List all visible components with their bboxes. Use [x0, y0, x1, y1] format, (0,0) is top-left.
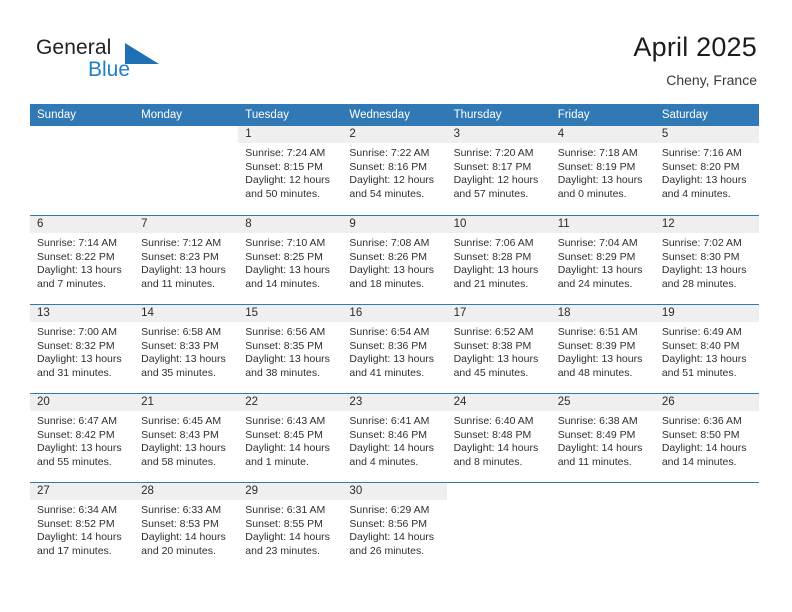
sunrise-text: Sunrise: 6:45 AM: [141, 415, 232, 429]
sunrise-text: Sunrise: 6:31 AM: [245, 504, 336, 518]
daylight-text-line1: Daylight: 14 hours: [558, 442, 649, 456]
calendar-day-cell[interactable]: 12Sunrise: 7:02 AMSunset: 8:30 PMDayligh…: [655, 216, 759, 304]
daylight-text-line1: Daylight: 13 hours: [662, 174, 753, 188]
calendar-day-cell[interactable]: 27Sunrise: 6:34 AMSunset: 8:52 PMDayligh…: [30, 483, 134, 571]
daylight-text-line2: and 0 minutes.: [558, 188, 649, 202]
calendar-day-cell[interactable]: 3Sunrise: 7:20 AMSunset: 8:17 PMDaylight…: [447, 126, 551, 215]
calendar-day-cell-empty: [447, 483, 551, 571]
day-sun-info: Sunrise: 7:06 AMSunset: 8:28 PMDaylight:…: [447, 233, 551, 291]
sunset-text: Sunset: 8:40 PM: [662, 340, 753, 354]
sunset-text: Sunset: 8:48 PM: [454, 429, 545, 443]
day-sun-info: Sunrise: 6:34 AMSunset: 8:52 PMDaylight:…: [30, 500, 134, 558]
logo-text-blue: Blue: [88, 58, 130, 82]
daylight-text-line1: Daylight: 14 hours: [349, 442, 440, 456]
calendar-day-cell-empty: [30, 126, 134, 215]
day-sun-info: Sunrise: 6:41 AMSunset: 8:46 PMDaylight:…: [342, 411, 446, 469]
sunrise-text: Sunrise: 6:29 AM: [349, 504, 440, 518]
day-sun-info: Sunrise: 7:00 AMSunset: 8:32 PMDaylight:…: [30, 322, 134, 380]
sunset-text: Sunset: 8:26 PM: [349, 251, 440, 265]
day-number: 14: [134, 305, 238, 322]
daylight-text-line2: and 41 minutes.: [349, 367, 440, 381]
sunrise-text: Sunrise: 7:22 AM: [349, 147, 440, 161]
calendar-day-cell[interactable]: 9Sunrise: 7:08 AMSunset: 8:26 PMDaylight…: [342, 216, 446, 304]
daylight-text-line1: Daylight: 13 hours: [662, 353, 753, 367]
day-number: 30: [342, 483, 446, 500]
calendar-day-cell[interactable]: 17Sunrise: 6:52 AMSunset: 8:38 PMDayligh…: [447, 305, 551, 393]
sunrise-text: Sunrise: 7:10 AM: [245, 237, 336, 251]
daylight-text-line1: Daylight: 14 hours: [662, 442, 753, 456]
day-sun-info: Sunrise: 7:04 AMSunset: 8:29 PMDaylight:…: [551, 233, 655, 291]
day-sun-info: Sunrise: 7:10 AMSunset: 8:25 PMDaylight:…: [238, 233, 342, 291]
sunrise-text: Sunrise: 7:04 AM: [558, 237, 649, 251]
calendar-day-cell[interactable]: 14Sunrise: 6:58 AMSunset: 8:33 PMDayligh…: [134, 305, 238, 393]
sunrise-text: Sunrise: 6:54 AM: [349, 326, 440, 340]
sunset-text: Sunset: 8:19 PM: [558, 161, 649, 175]
day-number: 24: [447, 394, 551, 411]
calendar-day-cell[interactable]: 30Sunrise: 6:29 AMSunset: 8:56 PMDayligh…: [342, 483, 446, 571]
day-number: [30, 126, 134, 143]
day-number: 21: [134, 394, 238, 411]
calendar-day-cell-empty: [655, 483, 759, 571]
daylight-text-line2: and 1 minute.: [245, 456, 336, 470]
daylight-text-line1: Daylight: 14 hours: [245, 442, 336, 456]
calendar-day-cell[interactable]: 1Sunrise: 7:24 AMSunset: 8:15 PMDaylight…: [238, 126, 342, 215]
daylight-text-line2: and 48 minutes.: [558, 367, 649, 381]
sunrise-text: Sunrise: 7:20 AM: [454, 147, 545, 161]
calendar-day-cell[interactable]: 7Sunrise: 7:12 AMSunset: 8:23 PMDaylight…: [134, 216, 238, 304]
calendar-weeks: 1Sunrise: 7:24 AMSunset: 8:15 PMDaylight…: [30, 126, 759, 571]
daylight-text-line2: and 28 minutes.: [662, 278, 753, 292]
day-number: 13: [30, 305, 134, 322]
calendar-page: General Blue April 2025 Cheny, France Su…: [0, 0, 792, 612]
day-number: 11: [551, 216, 655, 233]
sunset-text: Sunset: 8:38 PM: [454, 340, 545, 354]
daylight-text-line2: and 31 minutes.: [37, 367, 128, 381]
calendar-week-row: 13Sunrise: 7:00 AMSunset: 8:32 PMDayligh…: [30, 304, 759, 393]
daylight-text-line1: Daylight: 13 hours: [37, 353, 128, 367]
daylight-text-line1: Daylight: 13 hours: [37, 264, 128, 278]
sunrise-text: Sunrise: 7:14 AM: [37, 237, 128, 251]
day-number: 4: [551, 126, 655, 143]
sunrise-text: Sunrise: 7:08 AM: [349, 237, 440, 251]
logo-general-blue[interactable]: General Blue: [36, 36, 186, 88]
day-sun-info: Sunrise: 7:24 AMSunset: 8:15 PMDaylight:…: [238, 143, 342, 201]
day-sun-info: Sunrise: 7:02 AMSunset: 8:30 PMDaylight:…: [655, 233, 759, 291]
day-sun-info: Sunrise: 7:12 AMSunset: 8:23 PMDaylight:…: [134, 233, 238, 291]
calendar-day-cell[interactable]: 25Sunrise: 6:38 AMSunset: 8:49 PMDayligh…: [551, 394, 655, 482]
calendar-day-cell[interactable]: 19Sunrise: 6:49 AMSunset: 8:40 PMDayligh…: [655, 305, 759, 393]
calendar-day-cell[interactable]: 16Sunrise: 6:54 AMSunset: 8:36 PMDayligh…: [342, 305, 446, 393]
day-number: 25: [551, 394, 655, 411]
sunrise-text: Sunrise: 6:33 AM: [141, 504, 232, 518]
day-number: 7: [134, 216, 238, 233]
daylight-text-line2: and 57 minutes.: [454, 188, 545, 202]
sunset-text: Sunset: 8:23 PM: [141, 251, 232, 265]
daylight-text-line2: and 50 minutes.: [245, 188, 336, 202]
daylight-text-line1: Daylight: 13 hours: [141, 353, 232, 367]
daylight-text-line1: Daylight: 14 hours: [37, 531, 128, 545]
daylight-text-line1: Daylight: 13 hours: [454, 264, 545, 278]
daylight-text-line1: Daylight: 13 hours: [141, 442, 232, 456]
calendar-day-cell[interactable]: 4Sunrise: 7:18 AMSunset: 8:19 PMDaylight…: [551, 126, 655, 215]
sunset-text: Sunset: 8:20 PM: [662, 161, 753, 175]
calendar-week-row: 1Sunrise: 7:24 AMSunset: 8:15 PMDaylight…: [30, 126, 759, 215]
day-sun-info: Sunrise: 6:47 AMSunset: 8:42 PMDaylight:…: [30, 411, 134, 469]
calendar-day-cell[interactable]: 28Sunrise: 6:33 AMSunset: 8:53 PMDayligh…: [134, 483, 238, 571]
day-sun-info: Sunrise: 7:14 AMSunset: 8:22 PMDaylight:…: [30, 233, 134, 291]
sunrise-text: Sunrise: 6:56 AM: [245, 326, 336, 340]
daylight-text-line2: and 23 minutes.: [245, 545, 336, 559]
sunrise-text: Sunrise: 6:43 AM: [245, 415, 336, 429]
day-sun-info: Sunrise: 7:08 AMSunset: 8:26 PMDaylight:…: [342, 233, 446, 291]
daylight-text-line2: and 58 minutes.: [141, 456, 232, 470]
sunset-text: Sunset: 8:15 PM: [245, 161, 336, 175]
day-sun-info: Sunrise: 6:38 AMSunset: 8:49 PMDaylight:…: [551, 411, 655, 469]
day-sun-info: Sunrise: 6:51 AMSunset: 8:39 PMDaylight:…: [551, 322, 655, 380]
calendar-day-cell[interactable]: 24Sunrise: 6:40 AMSunset: 8:48 PMDayligh…: [447, 394, 551, 482]
sunset-text: Sunset: 8:35 PM: [245, 340, 336, 354]
sunset-text: Sunset: 8:50 PM: [662, 429, 753, 443]
daylight-text-line2: and 38 minutes.: [245, 367, 336, 381]
day-sun-info: Sunrise: 6:52 AMSunset: 8:38 PMDaylight:…: [447, 322, 551, 380]
daylight-text-line2: and 18 minutes.: [349, 278, 440, 292]
calendar-day-cell[interactable]: 20Sunrise: 6:47 AMSunset: 8:42 PMDayligh…: [30, 394, 134, 482]
sunset-text: Sunset: 8:53 PM: [141, 518, 232, 532]
daylight-text-line1: Daylight: 14 hours: [454, 442, 545, 456]
weekday-header-friday: Friday: [551, 104, 655, 126]
sunset-text: Sunset: 8:43 PM: [141, 429, 232, 443]
daylight-text-line2: and 51 minutes.: [662, 367, 753, 381]
calendar-day-cell[interactable]: 26Sunrise: 6:36 AMSunset: 8:50 PMDayligh…: [655, 394, 759, 482]
day-sun-info: Sunrise: 6:54 AMSunset: 8:36 PMDaylight:…: [342, 322, 446, 380]
logo-triangle-icon: [125, 43, 159, 64]
page-subtitle-location: Cheny, France: [633, 72, 757, 88]
day-number: [551, 483, 655, 500]
sunrise-text: Sunrise: 6:49 AM: [662, 326, 753, 340]
sunset-text: Sunset: 8:32 PM: [37, 340, 128, 354]
daylight-text-line2: and 24 minutes.: [558, 278, 649, 292]
daylight-text-line2: and 20 minutes.: [141, 545, 232, 559]
daylight-text-line1: Daylight: 13 hours: [245, 264, 336, 278]
day-number: 5: [655, 126, 759, 143]
sunrise-text: Sunrise: 7:06 AM: [454, 237, 545, 251]
calendar-week-row: 27Sunrise: 6:34 AMSunset: 8:52 PMDayligh…: [30, 482, 759, 571]
day-number: 9: [342, 216, 446, 233]
day-sun-info: Sunrise: 6:33 AMSunset: 8:53 PMDaylight:…: [134, 500, 238, 558]
daylight-text-line1: Daylight: 13 hours: [558, 174, 649, 188]
daylight-text-line1: Daylight: 12 hours: [454, 174, 545, 188]
calendar-day-cell[interactable]: 5Sunrise: 7:16 AMSunset: 8:20 PMDaylight…: [655, 126, 759, 215]
sunrise-text: Sunrise: 6:41 AM: [349, 415, 440, 429]
sunset-text: Sunset: 8:36 PM: [349, 340, 440, 354]
day-number: 17: [447, 305, 551, 322]
sunrise-text: Sunrise: 7:16 AM: [662, 147, 753, 161]
daylight-text-line1: Daylight: 13 hours: [37, 442, 128, 456]
page-title: April 2025: [633, 31, 757, 63]
logo-text-general: General: [36, 36, 111, 60]
weekday-header-thursday: Thursday: [447, 104, 551, 126]
sunrise-text: Sunrise: 6:58 AM: [141, 326, 232, 340]
day-sun-info: Sunrise: 6:36 AMSunset: 8:50 PMDaylight:…: [655, 411, 759, 469]
sunset-text: Sunset: 8:56 PM: [349, 518, 440, 532]
daylight-text-line1: Daylight: 13 hours: [558, 353, 649, 367]
day-sun-info: Sunrise: 6:43 AMSunset: 8:45 PMDaylight:…: [238, 411, 342, 469]
calendar-day-cell[interactable]: 15Sunrise: 6:56 AMSunset: 8:35 PMDayligh…: [238, 305, 342, 393]
day-number: 23: [342, 394, 446, 411]
day-number: 12: [655, 216, 759, 233]
daylight-text-line1: Daylight: 13 hours: [558, 264, 649, 278]
weekday-header-tuesday: Tuesday: [238, 104, 342, 126]
sunrise-text: Sunrise: 6:40 AM: [454, 415, 545, 429]
day-sun-info: Sunrise: 6:49 AMSunset: 8:40 PMDaylight:…: [655, 322, 759, 380]
daylight-text-line2: and 11 minutes.: [141, 278, 232, 292]
daylight-text-line2: and 21 minutes.: [454, 278, 545, 292]
day-number: 8: [238, 216, 342, 233]
sunrise-text: Sunrise: 6:51 AM: [558, 326, 649, 340]
sunset-text: Sunset: 8:33 PM: [141, 340, 232, 354]
day-number: 27: [30, 483, 134, 500]
day-number: 2: [342, 126, 446, 143]
day-number: 10: [447, 216, 551, 233]
sunset-text: Sunset: 8:30 PM: [662, 251, 753, 265]
day-sun-info: Sunrise: 7:22 AMSunset: 8:16 PMDaylight:…: [342, 143, 446, 201]
daylight-text-line1: Daylight: 13 hours: [349, 353, 440, 367]
weekday-header-row: Sunday Monday Tuesday Wednesday Thursday…: [30, 104, 759, 126]
day-sun-info: Sunrise: 7:18 AMSunset: 8:19 PMDaylight:…: [551, 143, 655, 201]
calendar-day-cell[interactable]: 22Sunrise: 6:43 AMSunset: 8:45 PMDayligh…: [238, 394, 342, 482]
day-sun-info: Sunrise: 7:20 AMSunset: 8:17 PMDaylight:…: [447, 143, 551, 201]
daylight-text-line2: and 11 minutes.: [558, 456, 649, 470]
sunset-text: Sunset: 8:28 PM: [454, 251, 545, 265]
day-sun-info: Sunrise: 6:58 AMSunset: 8:33 PMDaylight:…: [134, 322, 238, 380]
sunset-text: Sunset: 8:25 PM: [245, 251, 336, 265]
sunset-text: Sunset: 8:16 PM: [349, 161, 440, 175]
calendar-grid: Sunday Monday Tuesday Wednesday Thursday…: [30, 104, 759, 571]
daylight-text-line2: and 4 minutes.: [662, 188, 753, 202]
calendar-day-cell[interactable]: 2Sunrise: 7:22 AMSunset: 8:16 PMDaylight…: [342, 126, 446, 215]
day-sun-info: Sunrise: 6:40 AMSunset: 8:48 PMDaylight:…: [447, 411, 551, 469]
daylight-text-line1: Daylight: 13 hours: [454, 353, 545, 367]
sunrise-text: Sunrise: 6:52 AM: [454, 326, 545, 340]
sunset-text: Sunset: 8:17 PM: [454, 161, 545, 175]
daylight-text-line2: and 26 minutes.: [349, 545, 440, 559]
day-number: 22: [238, 394, 342, 411]
weekday-header-sunday: Sunday: [30, 104, 134, 126]
sunrise-text: Sunrise: 7:02 AM: [662, 237, 753, 251]
day-number: 26: [655, 394, 759, 411]
day-number: 18: [551, 305, 655, 322]
day-sun-info: Sunrise: 6:31 AMSunset: 8:55 PMDaylight:…: [238, 500, 342, 558]
calendar-day-cell[interactable]: 23Sunrise: 6:41 AMSunset: 8:46 PMDayligh…: [342, 394, 446, 482]
daylight-text-line2: and 14 minutes.: [662, 456, 753, 470]
calendar-day-cell[interactable]: 18Sunrise: 6:51 AMSunset: 8:39 PMDayligh…: [551, 305, 655, 393]
day-sun-info: Sunrise: 6:45 AMSunset: 8:43 PMDaylight:…: [134, 411, 238, 469]
day-number: 3: [447, 126, 551, 143]
daylight-text-line2: and 55 minutes.: [37, 456, 128, 470]
daylight-text-line2: and 7 minutes.: [37, 278, 128, 292]
sunrise-text: Sunrise: 6:47 AM: [37, 415, 128, 429]
day-sun-info: Sunrise: 7:16 AMSunset: 8:20 PMDaylight:…: [655, 143, 759, 201]
daylight-text-line1: Daylight: 13 hours: [141, 264, 232, 278]
calendar-day-cell[interactable]: 11Sunrise: 7:04 AMSunset: 8:29 PMDayligh…: [551, 216, 655, 304]
daylight-text-line1: Daylight: 14 hours: [245, 531, 336, 545]
day-number: 19: [655, 305, 759, 322]
day-number: 16: [342, 305, 446, 322]
calendar-day-cell-empty: [134, 126, 238, 215]
day-number: [655, 483, 759, 500]
daylight-text-line2: and 54 minutes.: [349, 188, 440, 202]
sunrise-text: Sunrise: 6:38 AM: [558, 415, 649, 429]
weekday-header-monday: Monday: [134, 104, 238, 126]
daylight-text-line2: and 14 minutes.: [245, 278, 336, 292]
day-number: 6: [30, 216, 134, 233]
daylight-text-line1: Daylight: 14 hours: [349, 531, 440, 545]
calendar-day-cell[interactable]: 6Sunrise: 7:14 AMSunset: 8:22 PMDaylight…: [30, 216, 134, 304]
page-header: General Blue April 2025 Cheny, France: [0, 0, 792, 100]
sunset-text: Sunset: 8:55 PM: [245, 518, 336, 532]
daylight-text-line2: and 17 minutes.: [37, 545, 128, 559]
sunset-text: Sunset: 8:52 PM: [37, 518, 128, 532]
weekday-header-saturday: Saturday: [655, 104, 759, 126]
sunset-text: Sunset: 8:42 PM: [37, 429, 128, 443]
calendar-day-cell[interactable]: 13Sunrise: 7:00 AMSunset: 8:32 PMDayligh…: [30, 305, 134, 393]
sunset-text: Sunset: 8:46 PM: [349, 429, 440, 443]
daylight-text-line2: and 4 minutes.: [349, 456, 440, 470]
weekday-header-wednesday: Wednesday: [342, 104, 446, 126]
sunrise-text: Sunrise: 7:12 AM: [141, 237, 232, 251]
calendar-week-row: 6Sunrise: 7:14 AMSunset: 8:22 PMDaylight…: [30, 215, 759, 304]
title-block: April 2025 Cheny, France: [633, 31, 757, 88]
sunrise-text: Sunrise: 6:36 AM: [662, 415, 753, 429]
calendar-day-cell[interactable]: 29Sunrise: 6:31 AMSunset: 8:55 PMDayligh…: [238, 483, 342, 571]
calendar-day-cell[interactable]: 21Sunrise: 6:45 AMSunset: 8:43 PMDayligh…: [134, 394, 238, 482]
sunrise-text: Sunrise: 7:24 AM: [245, 147, 336, 161]
day-number: 29: [238, 483, 342, 500]
daylight-text-line1: Daylight: 13 hours: [245, 353, 336, 367]
day-number: [134, 126, 238, 143]
sunrise-text: Sunrise: 6:34 AM: [37, 504, 128, 518]
day-number: 15: [238, 305, 342, 322]
calendar-day-cell[interactable]: 10Sunrise: 7:06 AMSunset: 8:28 PMDayligh…: [447, 216, 551, 304]
daylight-text-line1: Daylight: 12 hours: [349, 174, 440, 188]
sunset-text: Sunset: 8:45 PM: [245, 429, 336, 443]
sunset-text: Sunset: 8:22 PM: [37, 251, 128, 265]
calendar-day-cell[interactable]: 8Sunrise: 7:10 AMSunset: 8:25 PMDaylight…: [238, 216, 342, 304]
sunset-text: Sunset: 8:39 PM: [558, 340, 649, 354]
day-number: 20: [30, 394, 134, 411]
sunset-text: Sunset: 8:29 PM: [558, 251, 649, 265]
day-sun-info: Sunrise: 6:56 AMSunset: 8:35 PMDaylight:…: [238, 322, 342, 380]
calendar-day-cell-empty: [551, 483, 655, 571]
day-sun-info: Sunrise: 6:29 AMSunset: 8:56 PMDaylight:…: [342, 500, 446, 558]
day-number: [447, 483, 551, 500]
daylight-text-line2: and 45 minutes.: [454, 367, 545, 381]
daylight-text-line1: Daylight: 14 hours: [141, 531, 232, 545]
sunset-text: Sunset: 8:49 PM: [558, 429, 649, 443]
sunrise-text: Sunrise: 7:18 AM: [558, 147, 649, 161]
day-number: 28: [134, 483, 238, 500]
daylight-text-line1: Daylight: 12 hours: [245, 174, 336, 188]
daylight-text-line1: Daylight: 13 hours: [349, 264, 440, 278]
daylight-text-line2: and 35 minutes.: [141, 367, 232, 381]
daylight-text-line2: and 8 minutes.: [454, 456, 545, 470]
calendar-week-row: 20Sunrise: 6:47 AMSunset: 8:42 PMDayligh…: [30, 393, 759, 482]
day-number: 1: [238, 126, 342, 143]
sunrise-text: Sunrise: 7:00 AM: [37, 326, 128, 340]
daylight-text-line1: Daylight: 13 hours: [662, 264, 753, 278]
